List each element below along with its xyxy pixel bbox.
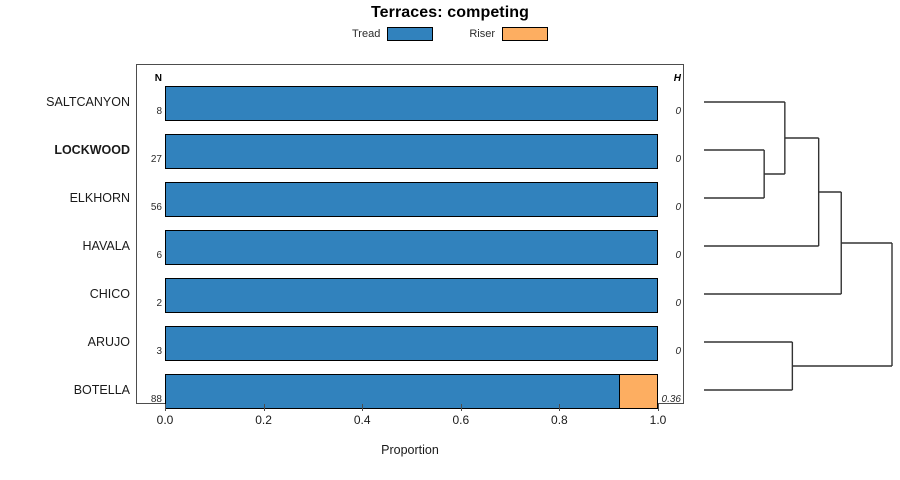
table-row: 20	[137, 271, 683, 319]
row-h-value: 0	[675, 250, 681, 261]
y-axis-label-arujo: ARUJO	[0, 335, 130, 349]
bar-segment-tread[interactable]	[166, 279, 657, 312]
stacked-bar[interactable]	[165, 278, 658, 313]
y-axis-label-elkhorn: ELKHORN	[0, 191, 130, 205]
row-n-value: 3	[137, 346, 162, 357]
legend-item-tread: Tread	[352, 27, 433, 41]
row-n-value: 2	[137, 298, 162, 309]
x-axis-tick-label: 1.0	[650, 413, 667, 427]
stacked-bar[interactable]	[165, 86, 658, 121]
y-axis-label-havala: HAVALA	[0, 239, 130, 253]
bar-segment-tread[interactable]	[166, 87, 657, 120]
x-axis: 0.00.20.40.60.81.0	[136, 404, 684, 444]
chart-root: Terraces: competing Tread Riser SALTCANY…	[0, 0, 900, 480]
row-h-value: 0	[675, 202, 681, 213]
x-axis-tick-mark	[461, 404, 462, 411]
y-axis-label-botella: BOTELLA	[0, 383, 130, 397]
bar-segment-tread[interactable]	[166, 231, 657, 264]
page-title: Terraces: competing	[0, 4, 900, 22]
row-h-value: 0	[675, 106, 681, 117]
y-axis-label-saltcanyon: SALTCANYON	[0, 95, 130, 109]
legend-label-riser: Riser	[469, 28, 495, 40]
stacked-bar[interactable]	[165, 230, 658, 265]
dendrogram-svg	[684, 64, 900, 404]
x-axis-tick-label: 0.0	[157, 413, 174, 427]
x-axis-tick-label: 0.2	[255, 413, 272, 427]
stacked-bar[interactable]	[165, 182, 658, 217]
row-h-value: 0	[675, 154, 681, 165]
x-axis-tick-mark	[165, 404, 166, 411]
legend-swatch-riser-icon	[502, 27, 548, 41]
stacked-bar[interactable]	[165, 326, 658, 361]
x-axis-tick-label: 0.6	[452, 413, 469, 427]
row-h-value: 0	[675, 346, 681, 357]
y-axis-labels: SALTCANYONLOCKWOODELKHORNHAVALACHICOARUJ…	[0, 64, 130, 404]
row-n-value: 27	[137, 154, 162, 165]
legend-item-riser: Riser	[469, 27, 548, 41]
dendrogram	[684, 64, 900, 404]
y-axis-label-chico: CHICO	[0, 287, 130, 301]
bar-segment-tread[interactable]	[166, 327, 657, 360]
y-axis-label-lockwood: LOCKWOOD	[0, 143, 130, 157]
plot-panel: N H 80270560602030880.36	[136, 64, 684, 404]
table-row: 270	[137, 127, 683, 175]
x-axis-tick-mark	[264, 404, 265, 411]
x-axis-tick-label: 0.4	[354, 413, 371, 427]
stacked-bar[interactable]	[165, 134, 658, 169]
row-h-value: 0	[675, 298, 681, 309]
bar-segment-tread[interactable]	[166, 183, 657, 216]
x-axis-tick-mark	[658, 404, 659, 411]
row-n-value: 8	[137, 106, 162, 117]
x-axis-tick-mark	[362, 404, 363, 411]
x-axis-tick-mark	[559, 404, 560, 411]
legend-swatch-tread-icon	[387, 27, 433, 41]
chart-legend: Tread Riser	[0, 27, 900, 41]
legend-label-tread: Tread	[352, 28, 380, 40]
x-axis-tick-label: 0.8	[551, 413, 568, 427]
row-n-value: 56	[137, 202, 162, 213]
table-row: 80	[137, 79, 683, 127]
row-n-value: 6	[137, 250, 162, 261]
table-row: 30	[137, 319, 683, 367]
table-row: 60	[137, 223, 683, 271]
x-axis-title: Proportion	[136, 443, 684, 457]
table-row: 560	[137, 175, 683, 223]
bar-segment-tread[interactable]	[166, 135, 657, 168]
